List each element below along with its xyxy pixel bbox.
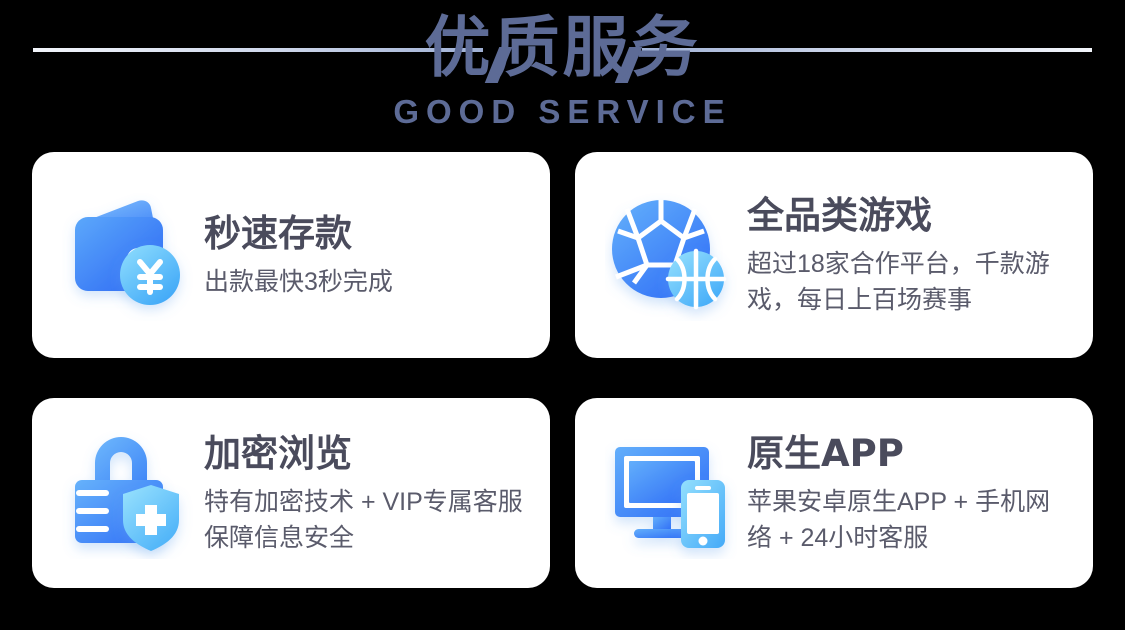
feature-card[interactable]: 全品类游戏 超过18家合作平台，千款游戏，每日上百场赛事 (575, 152, 1093, 358)
feature-card-desc: 苹果安卓原生APP + 手机网络 + 24小时客服 (747, 484, 1069, 556)
feature-card[interactable]: 原生APP 苹果安卓原生APP + 手机网络 + 24小时客服 (575, 398, 1093, 588)
feature-card-desc: 特有加密技术 + VIP专属客服保障信息安全 (204, 484, 526, 556)
page-subtitle: GOOD SERVICE (0, 93, 1125, 131)
feature-card-text: 加密浏览 特有加密技术 + VIP专属客服保障信息安全 (204, 431, 526, 556)
promo-banner: 优质服务 GOOD SERVICE (0, 0, 1125, 630)
wallet-yen-icon (62, 189, 194, 321)
feature-card[interactable]: 秒速存款 出款最快3秒完成 (32, 152, 550, 358)
feature-card-title: 秒速存款 (204, 211, 526, 257)
feature-card-text: 秒速存款 出款最快3秒完成 (204, 211, 526, 300)
lock-shield-icon (62, 427, 194, 559)
header: 优质服务 GOOD SERVICE (0, 0, 1125, 148)
feature-card[interactable]: 加密浏览 特有加密技术 + VIP专属客服保障信息安全 (32, 398, 550, 588)
feature-card-desc: 超过18家合作平台，千款游戏，每日上百场赛事 (747, 246, 1069, 318)
soccer-basketball-icon (605, 189, 737, 321)
feature-card-title: 原生APP (747, 431, 1069, 477)
feature-card-title: 加密浏览 (204, 431, 526, 477)
page-title: 优质服务 (0, 8, 1125, 88)
feature-card-text: 全品类游戏 超过18家合作平台，千款游戏，每日上百场赛事 (747, 193, 1069, 318)
feature-card-text: 原生APP 苹果安卓原生APP + 手机网络 + 24小时客服 (747, 431, 1069, 556)
feature-card-grid: 秒速存款 出款最快3秒完成 (32, 152, 1093, 588)
feature-card-desc: 出款最快3秒完成 (204, 264, 526, 300)
monitor-phone-icon (605, 427, 737, 559)
feature-card-title: 全品类游戏 (747, 193, 1069, 239)
